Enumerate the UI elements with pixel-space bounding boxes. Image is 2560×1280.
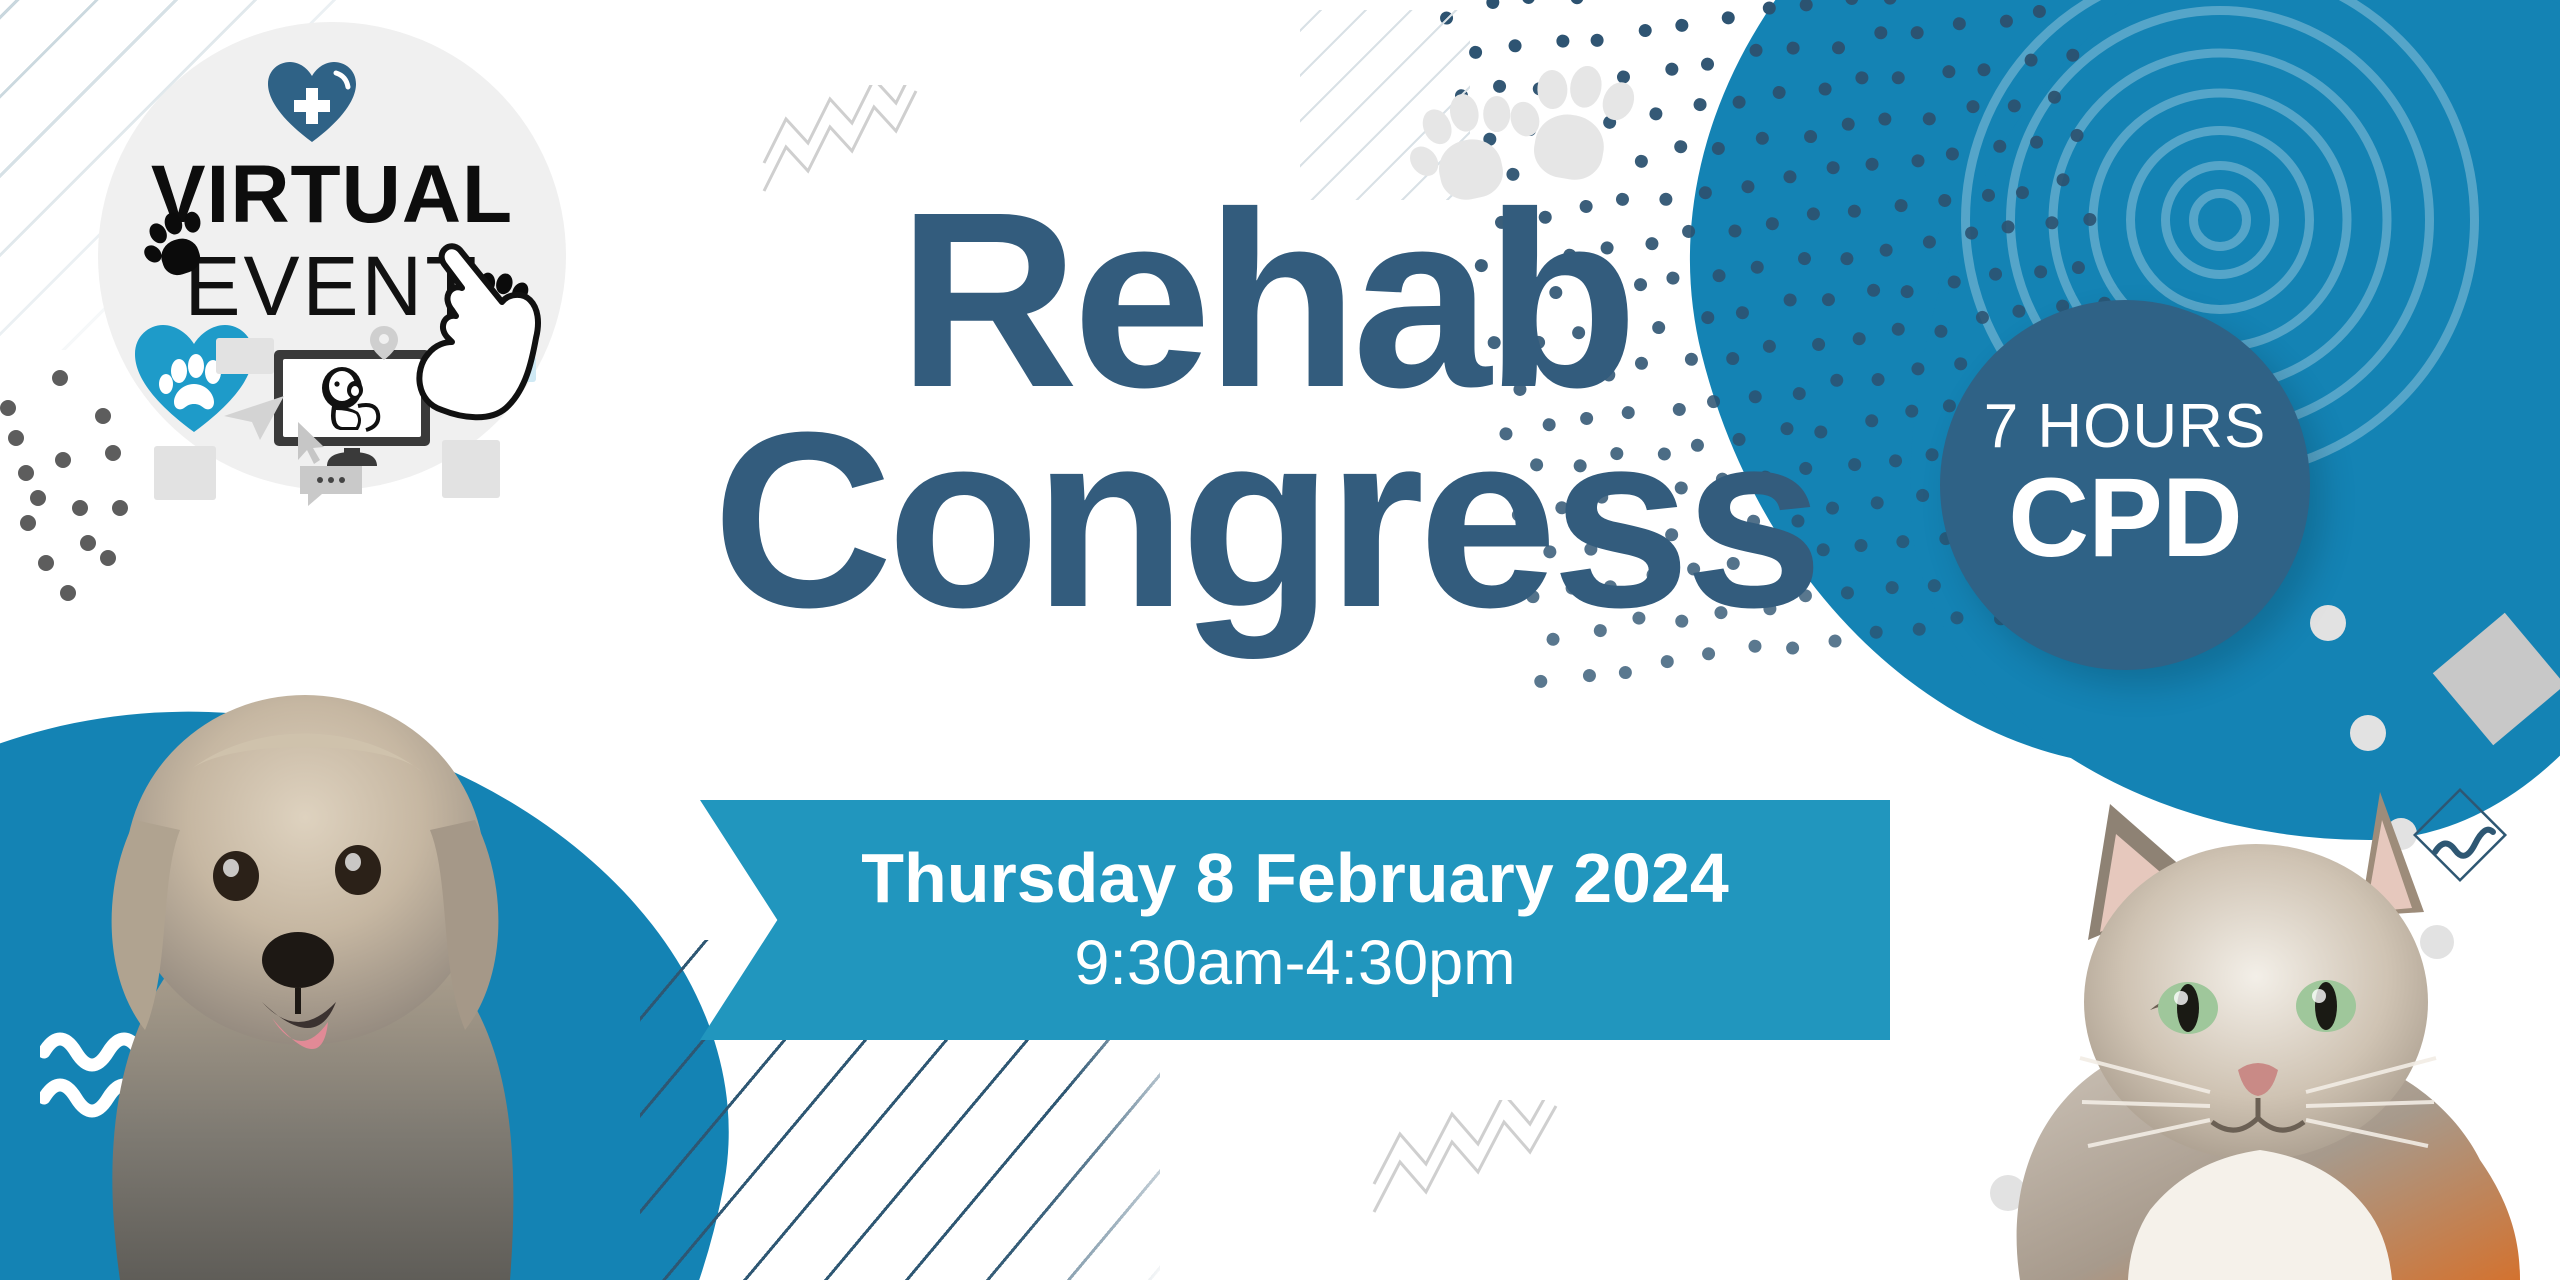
zigzag-icon [760,85,920,195]
date-ribbon: Thursday 8 February 2024 9:30am-4:30pm [700,800,1890,1040]
window-placeholder-icon [154,446,216,500]
title-line-2: Congress [640,410,1890,630]
zigzag-icon [1370,1100,1560,1220]
dog-photo [40,640,570,1280]
heart-medical-cross-icon [266,60,358,144]
image-placeholder-icon [442,440,500,498]
cpd-badge: 7 HOURS CPD [1940,300,2310,670]
decorative-square [2433,613,2560,745]
paw-print-icon [1510,30,1649,169]
title-line-1: Rehab [640,190,1890,410]
virtual-event-badge: VIRTUAL EVENT [98,22,566,490]
banner-root: VIRTUAL EVENT [0,0,2560,1280]
hand-pointer-icon [398,242,548,432]
decorative-circle [2310,605,2346,641]
image-placeholder-icon [216,338,274,374]
page-title: Rehab Congress [640,190,1890,630]
cat-photo [1960,740,2560,1280]
event-time: 9:30am-4:30pm [1074,927,1515,999]
cpd-label: CPD [2008,462,2241,574]
cpd-hours-label: 7 HOURS [1984,396,2267,458]
event-date: Thursday 8 February 2024 [861,841,1729,917]
